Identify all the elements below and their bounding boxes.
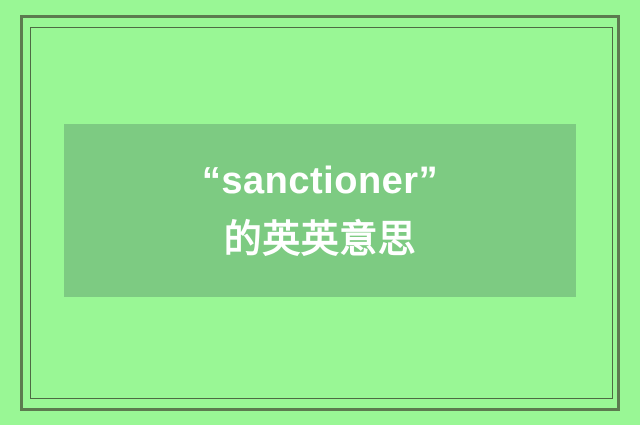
poster-canvas: “sanctioner”的英英意思 — [0, 0, 640, 425]
title-panel: “sanctioner”的英英意思 — [64, 124, 576, 297]
page-title: “sanctioner”的英英意思 — [185, 152, 455, 270]
